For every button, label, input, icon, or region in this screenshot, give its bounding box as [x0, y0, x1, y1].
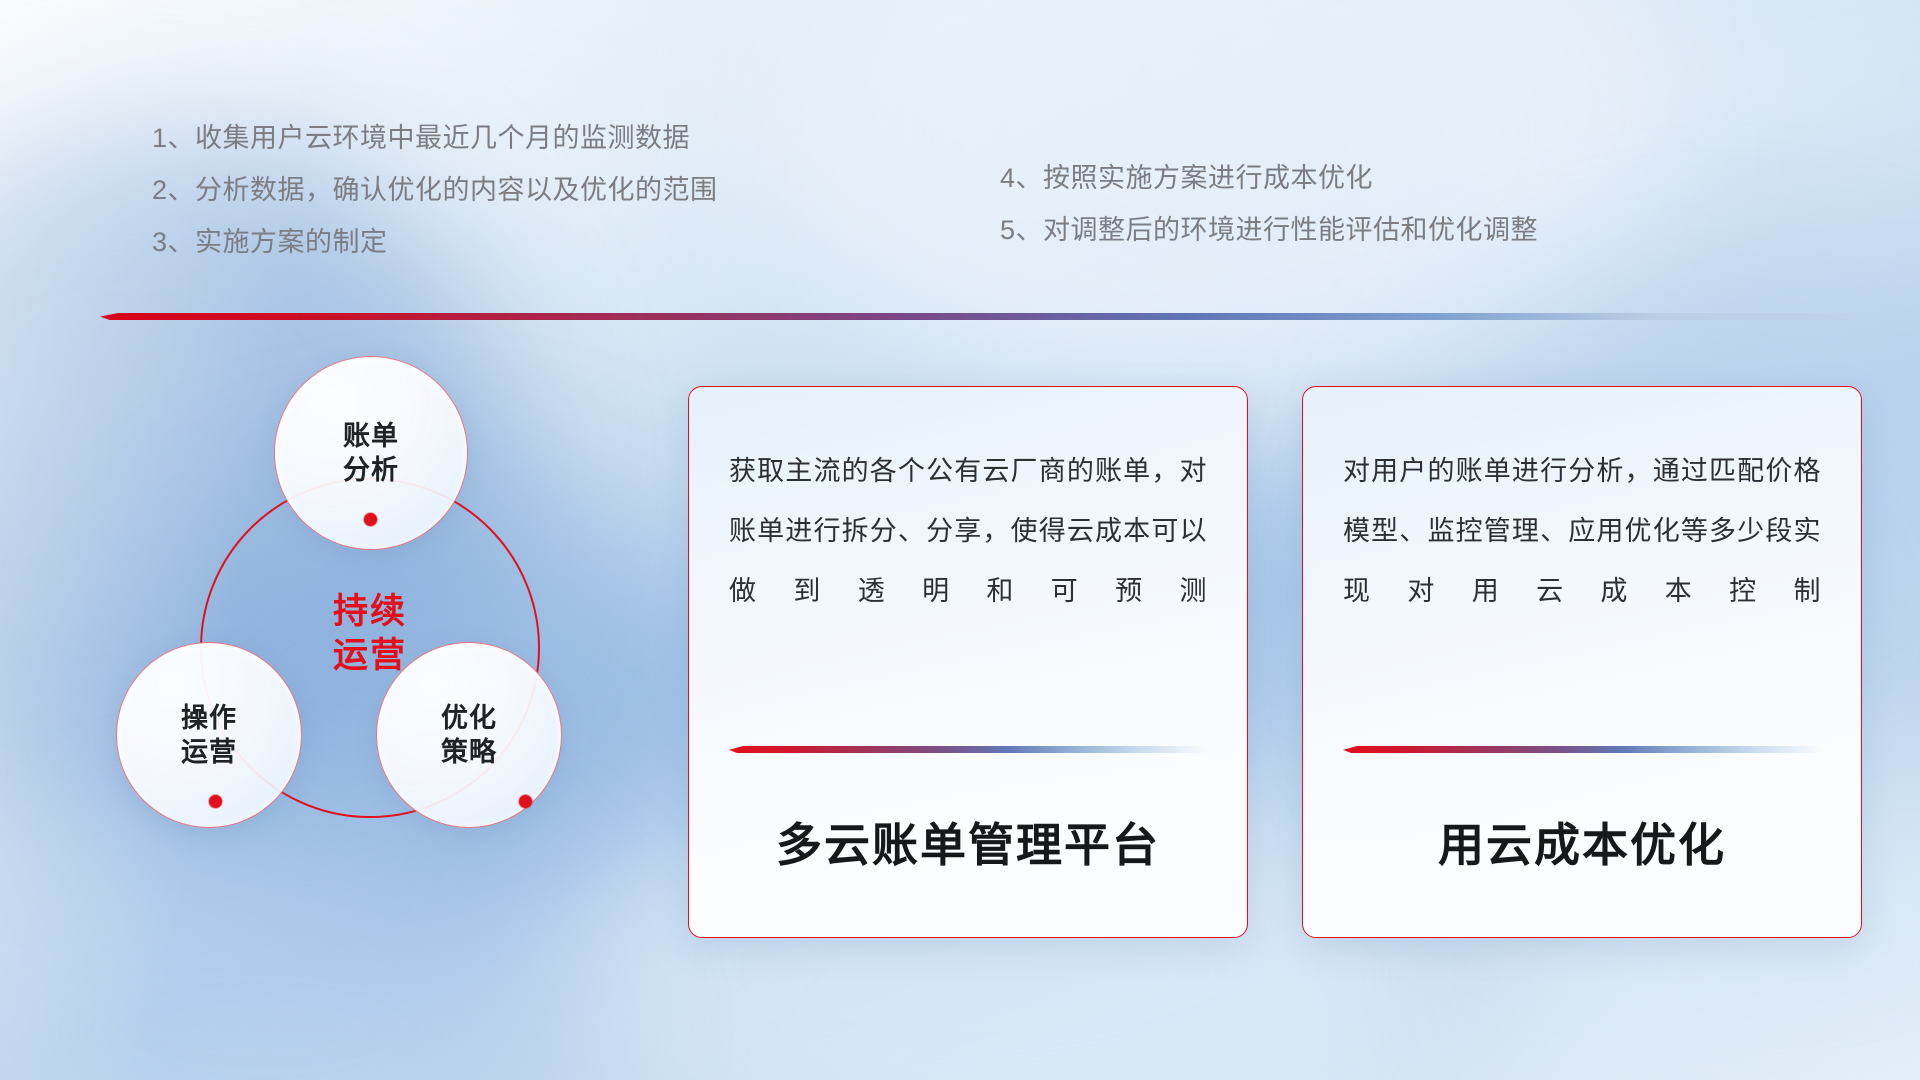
venn-bubble-label-line1: 账单 — [343, 419, 399, 453]
slide-canvas: 1、收集用户云环境中最近几个月的监测数据 2、分析数据，确认优化的内容以及优化的… — [0, 0, 1920, 1080]
headline-divider — [100, 313, 1900, 320]
venn-bubble-label-line2: 策略 — [441, 735, 497, 769]
venn-center-label-line1: 持续 — [244, 590, 496, 634]
venn-bubble-label-line1: 优化 — [441, 701, 497, 735]
card-divider — [729, 746, 1207, 753]
venn-node-dot-left — [209, 795, 222, 808]
process-step-1: 1、收集用户云环境中最近几个月的监测数据 — [152, 112, 718, 164]
venn-bubble-label-line2: 分析 — [343, 453, 399, 487]
card-title: 多云账单管理平台 — [729, 753, 1207, 937]
venn-bubble-label-line2: 运营 — [181, 735, 237, 769]
card-body-text: 获取主流的各个公有云厂商的账单，对账单进行拆分、分享，使得云成本可以做到透明和可… — [729, 441, 1207, 621]
venn-bubble-label-line1: 操作 — [181, 701, 237, 735]
process-step-3: 3、实施方案的制定 — [152, 216, 718, 268]
card-body-text: 对用户的账单进行分析，通过匹配价格模型、监控管理、应用优化等多少段实现对用云成本… — [1343, 441, 1821, 621]
process-steps-left: 1、收集用户云环境中最近几个月的监测数据 2、分析数据，确认优化的内容以及优化的… — [152, 112, 718, 268]
process-steps-right: 4、按照实施方案进行成本优化 5、对调整后的环境进行性能评估和优化调整 — [1000, 152, 1538, 256]
feature-card-cloud-cost-optimization[interactable]: 对用户的账单进行分析，通过匹配价格模型、监控管理、应用优化等多少段实现对用云成本… — [1302, 386, 1862, 938]
card-divider — [1343, 746, 1821, 753]
venn-center-label-line2: 运营 — [244, 634, 496, 678]
venn-node-dot-right — [519, 795, 532, 808]
venn-center-label: 持续 运营 — [244, 590, 496, 678]
venn-diagram: 账单 分析 操作 运营 优化 策略 持续 运营 — [96, 352, 656, 952]
venn-node-dot-top — [364, 513, 377, 526]
feature-card-multi-cloud-billing[interactable]: 获取主流的各个公有云厂商的账单，对账单进行拆分、分享，使得云成本可以做到透明和可… — [688, 386, 1248, 938]
process-step-2: 2、分析数据，确认优化的内容以及优化的范围 — [152, 164, 718, 216]
process-step-5: 5、对调整后的环境进行性能评估和优化调整 — [1000, 204, 1538, 256]
process-step-4: 4、按照实施方案进行成本优化 — [1000, 152, 1538, 204]
card-title: 用云成本优化 — [1343, 753, 1821, 937]
